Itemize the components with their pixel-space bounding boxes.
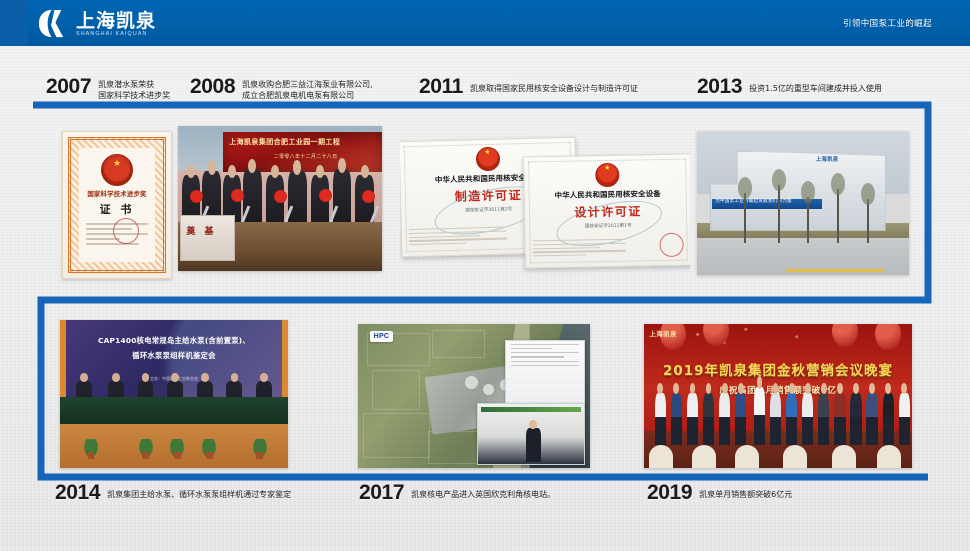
header-left-edge (0, 0, 28, 46)
conference-banner-line1: CAP1400核电常规岛主给水泵(含前置泵)、 (78, 335, 270, 346)
year-2007-desc-line1: 凯泉潜水泵荣获 (98, 79, 170, 90)
brand-name-cn: 上海凯泉 (76, 11, 156, 31)
year-2017: 2017 (359, 482, 404, 504)
kaiquan-k-monogram-icon (36, 8, 69, 39)
milestone-2014-label: 2014 凯泉集团主给水泵、循环水泵泵组样机通过专家鉴定 (55, 482, 291, 504)
national-emblem-icon (475, 147, 500, 172)
year-2011: 2011 (419, 76, 463, 98)
year-2014-desc: 凯泉集团主给水泵、循环水泵泵组样机通过专家鉴定 (107, 489, 291, 500)
year-2008-desc-line1: 凯泉收购合肥三益江海泵业有限公司, (242, 79, 373, 90)
year-2007-desc: 凯泉潜水泵荣获 国家科学技术进步奖 (98, 79, 170, 101)
ceremony-banner-line1: 上海凯泉集团合肥工业园一期工程 (229, 137, 340, 147)
licence-manufacture-body (409, 227, 507, 248)
brand-logo[interactable]: 上海凯泉 SHANGHAI KAIQUAN (36, 7, 156, 39)
year-2013: 2013 (697, 76, 742, 98)
milestone-2017-label: 2017 凯泉核电产品进入英国欣克利角核电站。 (359, 482, 555, 504)
year-2019: 2019 (647, 482, 692, 504)
photo-2013-heavy-workshop[interactable]: 上海凯泉 为中国泵工业的崛起贡献我们的力量 (697, 131, 909, 275)
conference-banner-line2: 循环水泵泵组样机鉴定会 (78, 350, 270, 361)
banquet-headline: 2019年凯泉集团金秋营销会议晚宴 (655, 359, 902, 379)
page-header: 上海凯泉 SHANGHAI KAIQUAN 引领中国泵工业的崛起 (0, 0, 970, 46)
certificate-border: 国家科学技术进步奖 证 书 (68, 137, 166, 273)
inset-photo-person (526, 428, 541, 462)
slide-canvas: 上海凯泉 SHANGHAI KAIQUAN 引领中国泵工业的崛起 2007 凯泉… (0, 0, 970, 551)
road-marking (785, 269, 885, 272)
inset-photo-banner (481, 407, 581, 412)
milestone-2013-label: 2013 投资1.5亿的重型车间建成并投入使用 (697, 76, 882, 98)
year-2007: 2007 (46, 76, 91, 98)
banquet-logo-text: 上海凯泉 (649, 328, 677, 338)
year-2014: 2014 (55, 482, 100, 504)
certificate-inner: 国家科学技术进步奖 证 书 (79, 148, 155, 262)
year-2014-desc-line1: 凯泉集团主给水泵、循环水泵泵组样机通过专家鉴定 (107, 489, 291, 500)
licence-design-body (533, 239, 626, 260)
licence-design: 中华人民共和国民用核安全设备 设计许可证 国核安证字2011第1号 (523, 154, 690, 269)
foundation-stone-text: 奠 基 (186, 224, 216, 237)
photo-2008-groundbreaking-ceremony[interactable]: 上海凯泉集团合肥工业园一期工程 二零零八年十二月二十八日 奠 (178, 126, 382, 271)
year-2008-desc-line2: 成立合肥凯泉电机电泵有限公司 (242, 90, 373, 101)
inset-award-photo (477, 403, 586, 465)
header-slogan: 引领中国泵工业的崛起 (843, 0, 932, 46)
certificate-subtitle: 证 书 (79, 201, 155, 217)
brand-logo-text: 上海凯泉 SHANGHAI KAIQUAN (76, 9, 156, 38)
year-2013-desc: 投资1.5亿的重型车间建成并投入使用 (749, 83, 882, 94)
photo-2017-hinkley-point-c[interactable]: HPC (358, 324, 590, 468)
ceremony-banner-line2: 二零零八年十二月二十八日 (274, 153, 338, 160)
national-emblem-icon (101, 154, 133, 186)
milestone-2011-label: 2011 凯泉取得国家民用核安全设备设计与制造许可证 (419, 76, 638, 98)
year-2017-desc-line1: 凯泉核电产品进入英国欣克利角核电站。 (411, 489, 555, 500)
photo-2014-appraisal-meeting[interactable]: CAP1400核电常规岛主给水泵(含前置泵)、 循环水泵泵组样机鉴定会 主办：中… (60, 320, 288, 468)
photo-2011-nuclear-licences[interactable]: 中华人民共和国民用核安全设备 制造许可证 国核安证字2011第2号 中华人民共和… (400, 133, 690, 275)
conference-table (60, 397, 288, 424)
hpc-logo: HPC (370, 331, 394, 342)
milestone-2007-label: 2007 凯泉潜水泵荣获 国家科学技术进步奖 (46, 76, 170, 101)
photo-2019-autumn-sales-banquet[interactable]: 上海凯泉 2019年凯泉集团金秋营销会议晚宴 庆祝集团九月销售额突破6亿 (644, 324, 912, 468)
year-2013-desc-line1: 投资1.5亿的重型车间建成并投入使用 (749, 83, 882, 94)
year-2019-desc: 凯泉单月销售额突破6亿元 (699, 489, 792, 500)
factory-logo-text: 上海凯泉 (816, 155, 839, 163)
red-seal-icon (113, 218, 139, 244)
year-2017-desc: 凯泉核电产品进入英国欣克利角核电站。 (411, 489, 555, 500)
brand-name-en: SHANGHAI KAIQUAN (76, 31, 156, 38)
foundation-stone: 奠 基 (180, 215, 235, 261)
certificate-title: 国家科学技术进步奖 (79, 189, 155, 198)
inset-certificate-document (505, 340, 586, 411)
year-2011-desc: 凯泉取得国家民用核安全设备设计与制造许可证 (470, 83, 638, 94)
milestone-2008-label: 2008 凯泉收购合肥三益江海泵业有限公司, 成立合肥凯泉电机电泵有限公司 (190, 76, 373, 101)
year-2007-desc-line2: 国家科学技术进步奖 (98, 90, 170, 101)
year-2011-desc-line1: 凯泉取得国家民用核安全设备设计与制造许可证 (470, 83, 638, 94)
factory-slogan-text: 为中国泵工业的崛起贡献我们的力量 (715, 198, 792, 204)
milestone-2019-label: 2019 凯泉单月销售额突破6亿元 (647, 482, 792, 504)
year-2008-desc: 凯泉收购合肥三益江海泵业有限公司, 成立合肥凯泉电机电泵有限公司 (242, 79, 373, 101)
year-2008: 2008 (190, 76, 235, 98)
year-2019-desc-line1: 凯泉单月销售额突破6亿元 (699, 489, 792, 500)
photo-2007-award-certificate[interactable]: 国家科学技术进步奖 证 书 (62, 131, 172, 279)
